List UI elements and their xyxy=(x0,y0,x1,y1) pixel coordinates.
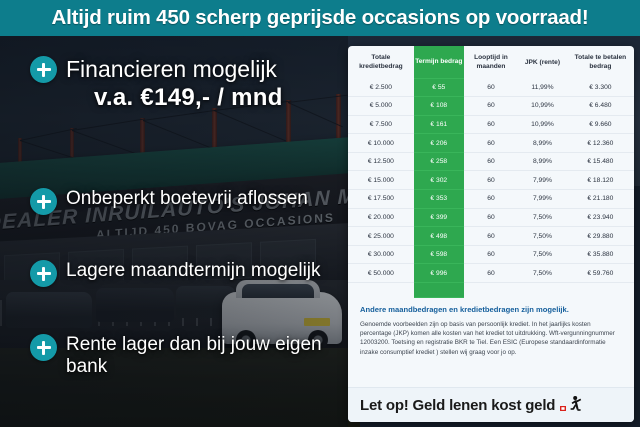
table-cell: € 9.660 xyxy=(567,115,634,134)
table-cell: € 50.000 xyxy=(348,264,414,283)
table-cell: € 2.500 xyxy=(348,78,414,97)
table-cell: 60 xyxy=(464,134,518,153)
table-cell: € 3.300 xyxy=(567,78,634,97)
credit-rates-table: Totale kredietbedragTermijn bedragLoopti… xyxy=(348,46,634,298)
table-cell: 7,50% xyxy=(518,208,567,227)
table-row: € 5.000€ 1086010,99%€ 6.480 xyxy=(348,97,634,116)
table-row: € 7.500€ 1616010,99%€ 9.660 xyxy=(348,115,634,134)
table-column-header: Termijn bedrag xyxy=(414,46,464,78)
table-row: € 12.500€ 258608,99%€ 15.480 xyxy=(348,152,634,171)
benefit-text: Rente lager dan bij jouw eigen bank xyxy=(66,334,348,378)
table-cell: € 598 xyxy=(414,245,464,264)
benefit-item-aflossen: Onbeperkt boetevrij aflossen xyxy=(30,188,308,215)
table-cell: 60 xyxy=(464,171,518,190)
table-cell: 8,99% xyxy=(518,134,567,153)
table-cell: € 12.500 xyxy=(348,152,414,171)
table-cell: 60 xyxy=(464,152,518,171)
table-highlight-tail xyxy=(348,283,634,299)
table-row: € 20.000€ 399607,50%€ 23.940 xyxy=(348,208,634,227)
benefits-list: Financieren mogelijk v.a. €149,- / mnd O… xyxy=(0,36,348,427)
table-column-header: Looptijd in maanden xyxy=(464,46,518,78)
table-cell: € 10.000 xyxy=(348,134,414,153)
table-cell: 7,99% xyxy=(518,171,567,190)
disclaimer-title: Andere maandbedragen en kredietbedragen … xyxy=(360,304,622,315)
disclaimer-note: Andere maandbedragen en kredietbedragen … xyxy=(348,298,634,357)
disclaimer-body: Genoemde voorbeelden zijn op basis van p… xyxy=(360,320,622,357)
benefit-line-1: Financieren mogelijk xyxy=(66,56,283,83)
plus-circle-icon xyxy=(30,334,57,361)
table-cell: € 996 xyxy=(414,264,464,283)
table-cell: € 12.360 xyxy=(567,134,634,153)
table-row: € 17.500€ 353607,99%€ 21.180 xyxy=(348,190,634,209)
table-cell: 11,99% xyxy=(518,78,567,97)
table-cell: € 55 xyxy=(414,78,464,97)
plus-circle-icon xyxy=(30,260,57,287)
table-cell: € 258 xyxy=(414,152,464,171)
table-row: € 10.000€ 206608,99%€ 12.360 xyxy=(348,134,634,153)
benefit-item-financieren: Financieren mogelijk v.a. €149,- / mnd xyxy=(30,56,283,113)
table-cell: 10,99% xyxy=(518,115,567,134)
table-cell: € 25.000 xyxy=(348,227,414,246)
table-cell: € 20.000 xyxy=(348,208,414,227)
table-cell: 8,99% xyxy=(518,152,567,171)
table-cell: 60 xyxy=(464,264,518,283)
table-cell: € 302 xyxy=(414,171,464,190)
table-cell: € 15.480 xyxy=(567,152,634,171)
table-cell: € 498 xyxy=(414,227,464,246)
headline-text: Altijd ruim 450 scherp geprijsde occasio… xyxy=(52,6,589,30)
table-cell: € 206 xyxy=(414,134,464,153)
table-cell: € 108 xyxy=(414,97,464,116)
table-cell: € 18.120 xyxy=(567,171,634,190)
table-row: € 15.000€ 302607,99%€ 18.120 xyxy=(348,171,634,190)
table-cell: 60 xyxy=(464,115,518,134)
running-man-icon xyxy=(560,395,582,415)
benefit-item-rente: Rente lager dan bij jouw eigen bank xyxy=(30,334,348,378)
table-body: € 2.500€ 556011,99%€ 3.300€ 5.000€ 10860… xyxy=(348,78,634,298)
table-cell: 7,99% xyxy=(518,190,567,209)
table-cell: 60 xyxy=(464,245,518,264)
table-cell: € 30.000 xyxy=(348,245,414,264)
table-cell: 60 xyxy=(464,97,518,116)
table-cell: € 23.940 xyxy=(567,208,634,227)
table-cell: 60 xyxy=(464,227,518,246)
table-cell: € 35.880 xyxy=(567,245,634,264)
plus-circle-icon xyxy=(30,56,57,83)
benefit-text: Onbeperkt boetevrij aflossen xyxy=(66,188,308,210)
promo-banner-image: DEALER INRUILAUTO'S JOHAN MEURE ALTIJD 4… xyxy=(0,0,640,427)
warning-text: Let op! Geld lenen kost geld xyxy=(360,397,555,414)
table-cell: € 6.480 xyxy=(567,97,634,116)
table-cell: € 7.500 xyxy=(348,115,414,134)
table-cell: 7,50% xyxy=(518,227,567,246)
table-cell: 60 xyxy=(464,208,518,227)
table-cell-spacer xyxy=(348,283,414,299)
table-cell: € 5.000 xyxy=(348,97,414,116)
table-cell: € 17.500 xyxy=(348,190,414,209)
benefit-text: Lagere maandtermijn mogelijk xyxy=(66,260,321,282)
table-cell-spacer xyxy=(518,283,567,299)
table-row: € 25.000€ 498607,50%€ 29.880 xyxy=(348,227,634,246)
table-cell: € 353 xyxy=(414,190,464,209)
table-cell: € 29.880 xyxy=(567,227,634,246)
table-cell-spacer xyxy=(567,283,634,299)
table-column-header: JPK (rente) xyxy=(518,46,567,78)
table-cell-spacer xyxy=(464,283,518,299)
table-cell: € 21.180 xyxy=(567,190,634,209)
plus-circle-icon xyxy=(30,188,57,215)
table-cell: € 399 xyxy=(414,208,464,227)
table-cell: 60 xyxy=(464,78,518,97)
table-column-header: Totale kredietbedrag xyxy=(348,46,414,78)
table-cell-spacer xyxy=(414,283,464,298)
credit-rates-card: Totale kredietbedragTermijn bedragLoopti… xyxy=(348,46,634,422)
table-cell: 7,50% xyxy=(518,245,567,264)
table-cell: 7,50% xyxy=(518,264,567,283)
benefit-item-maandtermijn: Lagere maandtermijn mogelijk xyxy=(30,260,321,287)
table-row: € 50.000€ 996607,50%€ 59.760 xyxy=(348,264,634,283)
table-row: € 30.000€ 598607,50%€ 35.880 xyxy=(348,245,634,264)
table-row: € 2.500€ 556011,99%€ 3.300 xyxy=(348,78,634,97)
headline-banner: Altijd ruim 450 scherp geprijsde occasio… xyxy=(0,0,640,36)
table-cell: € 15.000 xyxy=(348,171,414,190)
table-header-row: Totale kredietbedragTermijn bedragLoopti… xyxy=(348,46,634,78)
warning-footer: Let op! Geld lenen kost geld xyxy=(348,387,634,422)
table-cell: 60 xyxy=(464,190,518,209)
table-column-header: Totale te betalen bedrag xyxy=(567,46,634,78)
table-cell: 10,99% xyxy=(518,97,567,116)
table-cell: € 59.760 xyxy=(567,264,634,283)
table-cell: € 161 xyxy=(414,115,464,134)
benefit-line-2: v.a. €149,- / mnd xyxy=(66,83,283,113)
benefit-text: Financieren mogelijk v.a. €149,- / mnd xyxy=(66,56,283,113)
